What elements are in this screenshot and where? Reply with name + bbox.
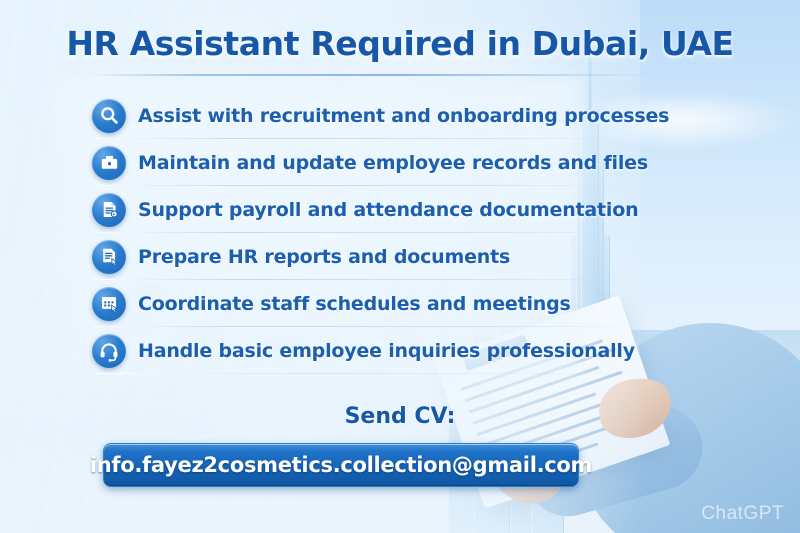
document-icon (92, 193, 126, 227)
job-advertisement-poster: HR Assistant Required in Dubai, UAE Assi… (0, 0, 800, 533)
list-item: Maintain and update employee records and… (92, 139, 632, 186)
responsibilities-list: Assist with recruitment and onboarding p… (92, 92, 632, 374)
magnifier-icon (92, 99, 126, 133)
list-item-label: Assist with recruitment and onboarding p… (138, 105, 669, 127)
send-cv-label: Send CV: (0, 404, 800, 429)
list-item-label: Coordinate staff schedules and meetings (138, 293, 571, 315)
title-divider (88, 74, 654, 76)
page-title: HR Assistant Required in Dubai, UAE (0, 24, 800, 63)
report-icon (92, 240, 126, 274)
list-item: Assist with recruitment and onboarding p… (92, 92, 632, 139)
list-item: Support payroll and attendance documenta… (92, 186, 632, 233)
list-item: Handle basic employee inquiries professi… (92, 327, 632, 374)
list-item-label: Handle basic employee inquiries professi… (138, 340, 635, 362)
list-item-label: Prepare HR reports and documents (138, 246, 510, 268)
list-item-label: Support payroll and attendance documenta… (138, 199, 638, 221)
calendar-icon (92, 287, 126, 321)
email-address-text: info.fayez2cosmetics.collection@gmail.co… (90, 453, 592, 477)
poster-content: HR Assistant Required in Dubai, UAE Assi… (0, 0, 800, 533)
list-item-label: Maintain and update employee records and… (138, 152, 648, 174)
chatgpt-watermark: ChatGPT (701, 503, 784, 525)
list-item: Prepare HR reports and documents (92, 233, 632, 280)
list-item: Coordinate staff schedules and meetings (92, 280, 632, 327)
email-address-button[interactable]: info.fayez2cosmetics.collection@gmail.co… (103, 443, 579, 487)
headset-icon (92, 334, 126, 368)
briefcase-icon (92, 146, 126, 180)
